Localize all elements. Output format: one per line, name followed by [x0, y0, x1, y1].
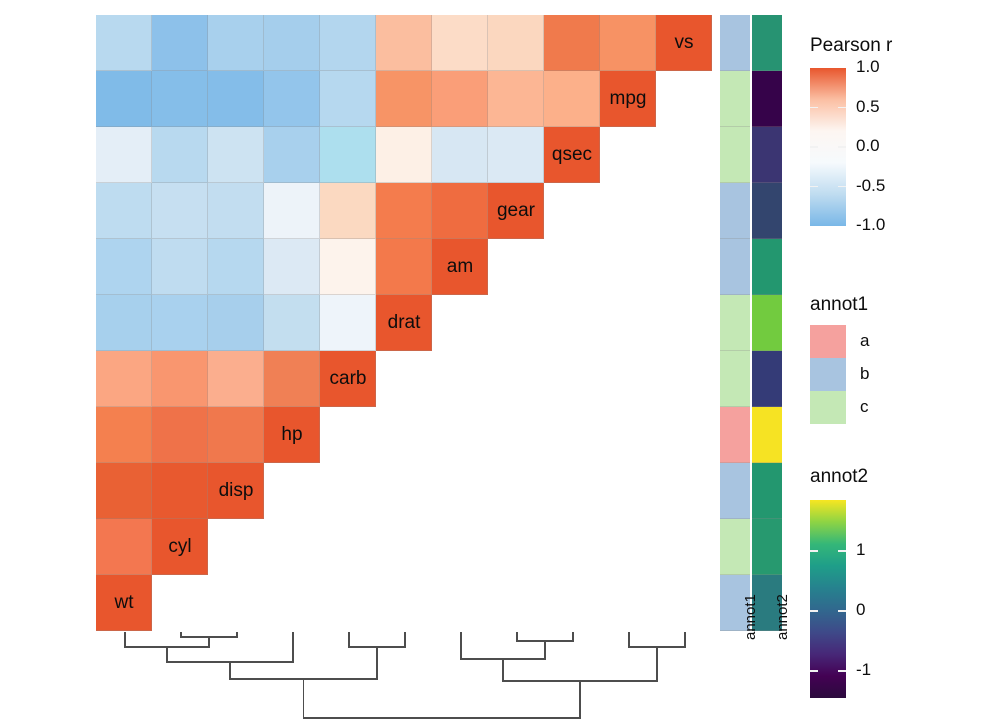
heatmap-cell — [152, 351, 208, 407]
heatmap-cell — [152, 15, 208, 71]
dendrogram-branch — [656, 646, 658, 680]
diagonal-label-vs: vs — [656, 15, 712, 71]
heatmap-cell — [208, 351, 264, 407]
pearson-colorbar-tick — [810, 186, 818, 188]
heatmap-cell — [432, 183, 488, 239]
dendrogram-branch — [124, 632, 126, 646]
heatmap-cell — [96, 71, 152, 127]
annot1-legend-label-a: a — [860, 331, 869, 351]
heatmap-cell — [96, 463, 152, 519]
heatmap-cell — [152, 407, 208, 463]
heatmap-cell — [96, 351, 152, 407]
dendrogram-branch — [303, 678, 305, 717]
heatmap-cell — [264, 183, 320, 239]
correlation-heatmap-figure: wtcyldisphpcarbdratamgearqsecmpgvsannot1… — [0, 0, 1008, 720]
pearson-colorbar-tick — [810, 107, 818, 109]
annot2-colorbar-tick — [810, 670, 818, 672]
dendrogram-branch — [572, 632, 574, 640]
pearson-tick-label: 0.0 — [856, 136, 880, 156]
heatmap-cell — [96, 127, 152, 183]
heatmap-cell — [208, 71, 264, 127]
annot1-legend-swatch-a[interactable] — [810, 325, 846, 358]
legend-title-pearson: Pearson r — [810, 35, 892, 57]
annot1-cell — [720, 15, 750, 71]
annot2-cell — [752, 183, 782, 239]
pearson-tick-label: -0.5 — [856, 176, 885, 196]
heatmap-cell — [264, 71, 320, 127]
diagonal-label-mpg: mpg — [600, 71, 656, 127]
heatmap-cell — [376, 183, 432, 239]
heatmap-cell — [264, 295, 320, 351]
heatmap-cell — [544, 15, 600, 71]
annot1-cell — [720, 239, 750, 295]
heatmap-cell — [488, 71, 544, 127]
annot2-cell — [752, 463, 782, 519]
annot2-tick-label: 1 — [856, 540, 865, 560]
diagonal-label-drat: drat — [376, 295, 432, 351]
annot1-cell — [720, 407, 750, 463]
diagonal-label-gear: gear — [488, 183, 544, 239]
dendrogram-branch — [516, 632, 518, 640]
annot2-cell — [752, 295, 782, 351]
heatmap-cell — [376, 239, 432, 295]
heatmap-cell — [152, 71, 208, 127]
heatmap-cell — [152, 295, 208, 351]
annot2-tick-label: 0 — [856, 600, 865, 620]
dendrogram-branch — [376, 646, 378, 678]
diagonal-label-disp: disp — [208, 463, 264, 519]
heatmap-cell — [152, 183, 208, 239]
annot2-cell — [752, 127, 782, 183]
dendrogram-branch — [579, 680, 581, 717]
heatmap-cell — [376, 127, 432, 183]
heatmap-cell — [208, 407, 264, 463]
heatmap-cell — [264, 15, 320, 71]
heatmap-cell — [488, 15, 544, 71]
heatmap-cell — [320, 71, 376, 127]
annot2-colorbar-tick — [810, 550, 818, 552]
heatmap-cell — [96, 15, 152, 71]
annot1-cell — [720, 183, 750, 239]
heatmap-cell — [376, 71, 432, 127]
diagonal-label-am: am — [432, 239, 488, 295]
heatmap-cell — [208, 183, 264, 239]
dendrogram-branch — [208, 636, 210, 646]
heatmap-cell — [320, 295, 376, 351]
annot1-legend-swatch-c[interactable] — [810, 391, 846, 424]
annot2-colorbar-tick — [838, 610, 846, 612]
dendrogram-branch — [166, 646, 168, 661]
annot1-cell — [720, 463, 750, 519]
annot2-cell — [752, 407, 782, 463]
pearson-tick-label: -1.0 — [856, 215, 885, 235]
annot1-cell — [720, 519, 750, 575]
heatmap-cell — [208, 15, 264, 71]
annot2-tick-label: -1 — [856, 660, 871, 680]
pearson-tick-label: 1.0 — [856, 57, 880, 77]
annot2-colorbar — [810, 500, 846, 698]
legend-title-annot2: annot2 — [810, 466, 868, 488]
pearson-colorbar-tick — [838, 186, 846, 188]
diagonal-label-hp: hp — [264, 407, 320, 463]
annot1-legend-label-c: c — [860, 397, 869, 417]
dendrogram-branch — [460, 632, 462, 658]
dendrogram-link — [303, 717, 581, 719]
dendrogram-branch — [544, 640, 546, 658]
heatmap-cell — [96, 519, 152, 575]
annot-axis-label-annot1: annot1 — [742, 594, 759, 640]
annot1-cell — [720, 127, 750, 183]
heatmap-cell — [432, 71, 488, 127]
heatmap-cell — [320, 127, 376, 183]
annot2-colorbar-tick — [838, 550, 846, 552]
diagonal-label-cyl: cyl — [152, 519, 208, 575]
heatmap-cell — [96, 407, 152, 463]
dendrogram-branch — [684, 632, 686, 646]
annot1-cell — [720, 71, 750, 127]
heatmap-cell — [208, 295, 264, 351]
annot2-cell — [752, 71, 782, 127]
heatmap-cell — [264, 127, 320, 183]
heatmap-cell — [264, 351, 320, 407]
pearson-tick-label: 0.5 — [856, 97, 880, 117]
annot1-cell — [720, 351, 750, 407]
dendrogram-branch — [404, 632, 406, 646]
heatmap-cell — [208, 239, 264, 295]
annot2-cell — [752, 15, 782, 71]
heatmap-cell — [488, 127, 544, 183]
pearson-colorbar-tick — [810, 146, 818, 148]
heatmap-cell — [600, 15, 656, 71]
pearson-colorbar-tick — [838, 146, 846, 148]
heatmap-cell — [320, 183, 376, 239]
dendrogram-branch — [348, 632, 350, 646]
heatmap-cell — [96, 183, 152, 239]
heatmap-cell — [96, 295, 152, 351]
dendrogram-branch — [502, 658, 504, 680]
pearson-colorbar-tick — [838, 107, 846, 109]
heatmap-cell — [96, 239, 152, 295]
annot1-legend-swatch-b[interactable] — [810, 358, 846, 391]
heatmap-cell — [152, 239, 208, 295]
legend-title-annot1: annot1 — [810, 294, 868, 316]
heatmap-cell — [432, 127, 488, 183]
diagonal-label-carb: carb — [320, 351, 376, 407]
annot2-cell — [752, 351, 782, 407]
heatmap-cell — [320, 239, 376, 295]
annot2-cell — [752, 239, 782, 295]
heatmap-cell — [544, 71, 600, 127]
heatmap-cell — [264, 239, 320, 295]
annot-axis-label-annot2: annot2 — [774, 594, 791, 640]
dendrogram-branch — [292, 632, 294, 661]
annot1-legend-label-b: b — [860, 364, 869, 384]
heatmap-cell — [208, 127, 264, 183]
annot2-colorbar-tick — [810, 610, 818, 612]
heatmap-cell — [152, 127, 208, 183]
dendrogram-branch — [628, 632, 630, 646]
diagonal-label-qsec: qsec — [544, 127, 600, 183]
annot2-colorbar-tick — [838, 670, 846, 672]
heatmap-cell — [432, 15, 488, 71]
heatmap-cell — [320, 15, 376, 71]
heatmap-cell — [152, 463, 208, 519]
annot1-cell — [720, 295, 750, 351]
diagonal-label-wt: wt — [96, 575, 152, 631]
heatmap-cell — [376, 15, 432, 71]
dendrogram-branch — [229, 661, 231, 678]
annot2-cell — [752, 519, 782, 575]
